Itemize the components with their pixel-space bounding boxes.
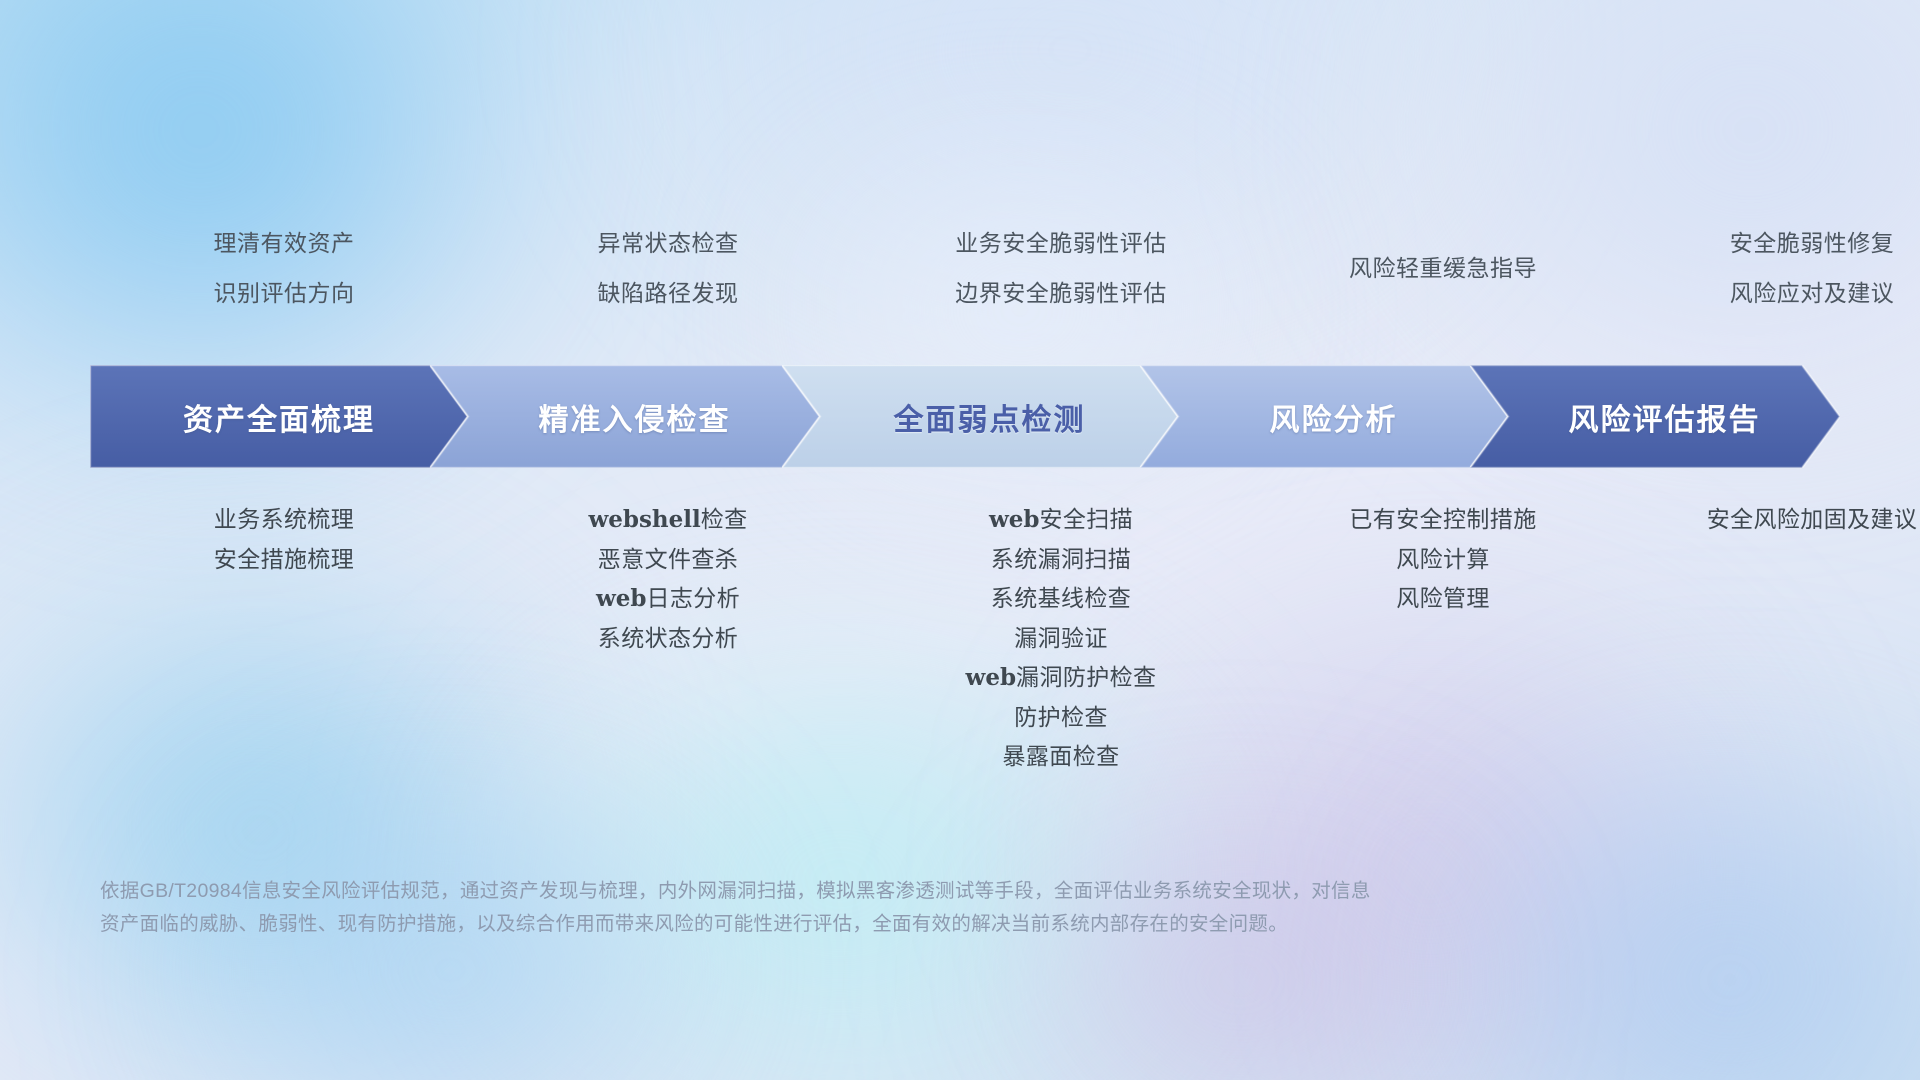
stage-detail-item: web漏洞防护检查 bbox=[966, 658, 1157, 698]
stage-detail-item: 业务系统梳理 bbox=[214, 500, 354, 540]
stage-top-labels-risk-analysis: 风险轻重缓急指导 bbox=[1259, 228, 1627, 308]
stage-top-label: 识别评估方向 bbox=[214, 268, 355, 318]
stage-detail-item-latin: web bbox=[596, 585, 647, 612]
stage-detail-item: 已有安全控制措施 bbox=[1349, 500, 1536, 540]
stage-detail-item-latin: web bbox=[989, 506, 1040, 533]
stage-detail-list-weakness-detection: web安全扫描系统漏洞扫描系统基线检查漏洞验证web漏洞防护检查防护检查暴露面检… bbox=[863, 500, 1259, 777]
stage-detail-list-asset-inventory: 业务系统梳理安全措施梳理 bbox=[95, 500, 473, 579]
stage-top-label: 业务安全脆弱性评估 bbox=[955, 218, 1167, 268]
stage-top-label: 边界安全脆弱性评估 bbox=[955, 268, 1167, 318]
stage-detail-item: 风险管理 bbox=[1396, 579, 1490, 619]
stage-detail-item: 系统漏洞扫描 bbox=[991, 540, 1131, 580]
stage-detail-item: 系统状态分析 bbox=[598, 619, 738, 659]
stage-detail-item: web日志分析 bbox=[596, 579, 740, 619]
stage-detail-list-risk-report: 安全风险加固及建议 bbox=[1627, 500, 1920, 540]
stage-top-label: 缺陷路径发现 bbox=[598, 268, 739, 318]
stage-detail-lists-row: 业务系统梳理安全措施梳理webshell检查恶意文件查杀web日志分析系统状态分… bbox=[95, 500, 1835, 777]
stage-top-label: 理清有效资产 bbox=[214, 218, 355, 268]
stage-top-label: 安全脆弱性修复 bbox=[1730, 218, 1895, 268]
footer-line-2: 资产面临的威胁、脆弱性、现有防护措施，以及综合作用而带来风险的可能性进行评估，全… bbox=[100, 908, 1630, 941]
stage-detail-item: 系统基线检查 bbox=[991, 579, 1131, 619]
process-stage-weakness-detection[interactable]: 全面弱点检测 bbox=[782, 365, 1178, 468]
stage-detail-item-latin: web bbox=[966, 664, 1017, 691]
stage-detail-item: 安全风险加固及建议 bbox=[1707, 500, 1918, 540]
stage-top-label: 风险应对及建议 bbox=[1730, 268, 1895, 318]
stage-detail-list-intrusion-check: webshell检查恶意文件查杀web日志分析系统状态分析 bbox=[473, 500, 863, 658]
stage-title-weakness-detection: 全面弱点检测 bbox=[894, 395, 1086, 439]
stage-top-labels-row: 理清有效资产识别评估方向异常状态检查缺陷路径发现业务安全脆弱性评估边界安全脆弱性… bbox=[95, 228, 1835, 308]
stage-top-labels-risk-report: 安全脆弱性修复风险应对及建议 bbox=[1627, 228, 1920, 308]
stage-detail-item: 安全措施梳理 bbox=[214, 540, 354, 580]
stage-detail-item: 恶意文件查杀 bbox=[598, 540, 738, 580]
process-stage-risk-report[interactable]: 风险评估报告 bbox=[1470, 365, 1840, 468]
footer-description: 依据GB/T20984信息安全风险评估规范，通过资产发现与梳理，内外网漏洞扫描，… bbox=[100, 875, 1630, 941]
stage-detail-item: webshell检查 bbox=[588, 500, 747, 540]
stage-detail-list-risk-analysis: 已有安全控制措施风险计算风险管理 bbox=[1259, 500, 1627, 619]
stage-detail-item: 漏洞验证 bbox=[1014, 619, 1108, 659]
stage-top-labels-intrusion-check: 异常状态检查缺陷路径发现 bbox=[473, 228, 863, 308]
stage-top-labels-weakness-detection: 业务安全脆弱性评估边界安全脆弱性评估 bbox=[863, 228, 1259, 308]
stage-detail-item: 暴露面检查 bbox=[1003, 737, 1120, 777]
stage-title-risk-report: 风险评估报告 bbox=[1569, 395, 1761, 439]
footer-line-1: 依据GB/T20984信息安全风险评估规范，通过资产发现与梳理，内外网漏洞扫描，… bbox=[100, 875, 1630, 908]
stage-top-label: 异常状态检查 bbox=[598, 218, 739, 268]
stage-detail-item: 防护检查 bbox=[1014, 698, 1108, 738]
process-diagram: 理清有效资产识别评估方向异常状态检查缺陷路径发现业务安全脆弱性评估边界安全脆弱性… bbox=[0, 0, 1920, 1080]
process-chevron-band: 资产全面梳理精准入侵检查全面弱点检测风险分析风险评估报告 bbox=[90, 365, 1840, 468]
stage-detail-item-latin: webshell bbox=[588, 506, 700, 533]
process-stage-risk-analysis[interactable]: 风险分析 bbox=[1140, 365, 1508, 468]
stage-title-risk-analysis: 风险分析 bbox=[1270, 395, 1398, 439]
stage-title-asset-inventory: 资产全面梳理 bbox=[183, 395, 375, 439]
process-stage-asset-inventory[interactable]: 资产全面梳理 bbox=[90, 365, 468, 468]
process-stage-intrusion-check[interactable]: 精准入侵检查 bbox=[430, 365, 820, 468]
stage-top-labels-asset-inventory: 理清有效资产识别评估方向 bbox=[95, 228, 473, 308]
stage-title-intrusion-check: 精准入侵检查 bbox=[539, 395, 731, 439]
stage-detail-item: 风险计算 bbox=[1396, 540, 1490, 580]
stage-detail-item: web安全扫描 bbox=[989, 500, 1133, 540]
stage-top-label: 风险轻重缓急指导 bbox=[1349, 243, 1537, 293]
